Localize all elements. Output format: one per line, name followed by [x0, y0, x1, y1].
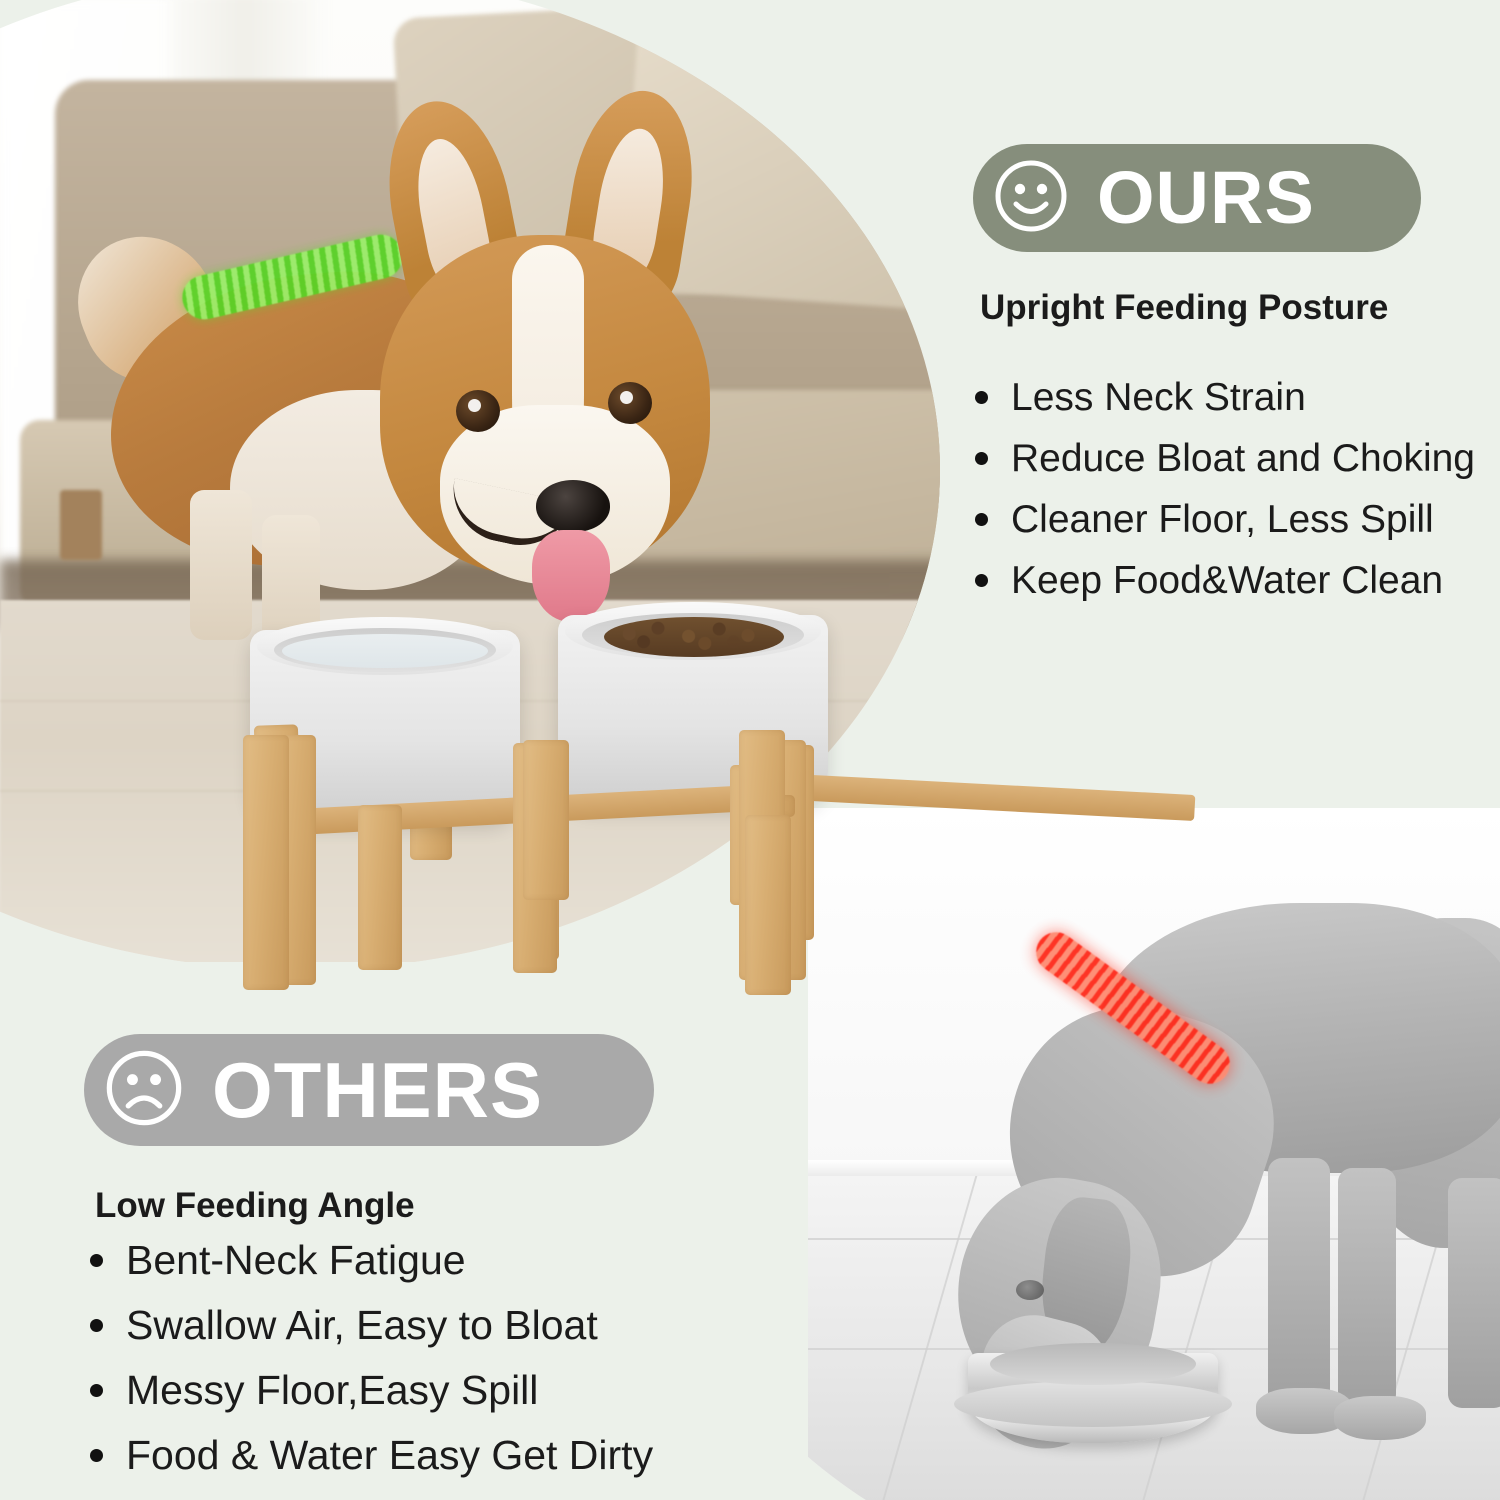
- corgi-eye-right: [608, 382, 652, 424]
- list-item-label: Food & Water Easy Get Dirty: [126, 1435, 653, 1476]
- bullet-dot-icon: [975, 574, 988, 587]
- list-item-label: Cleaner Floor, Less Spill: [1011, 500, 1434, 539]
- ours-badge-label: OURS: [1097, 161, 1315, 235]
- list-item-label: Less Neck Strain: [1011, 378, 1306, 417]
- smiley-face-icon: [991, 156, 1071, 241]
- list-item-label: Messy Floor,Easy Spill: [126, 1370, 538, 1411]
- list-item-label: Swallow Air, Easy to Bloat: [126, 1305, 598, 1346]
- frowning-face-icon: [102, 1046, 186, 1135]
- list-item-label: Reduce Bloat and Choking: [1011, 439, 1475, 478]
- steel-bowl-base-rim: [954, 1381, 1232, 1427]
- bullet-dot-icon: [90, 1319, 103, 1332]
- others-badge-label: OTHERS: [212, 1051, 543, 1129]
- list-item: Food & Water Easy Get Dirty: [90, 1435, 653, 1476]
- ours-benefit-list: Less Neck Strain Reduce Bloat and Chokin…: [975, 378, 1475, 622]
- dog-front-leg: [1338, 1168, 1396, 1408]
- bullet-dot-icon: [975, 391, 988, 404]
- steel-bowl-opening: [990, 1343, 1196, 1385]
- list-item: Keep Food&Water Clean: [975, 561, 1475, 600]
- water-content: [282, 634, 488, 668]
- stand-leg-left-front-lower: [243, 735, 289, 990]
- list-item: Cleaner Floor, Less Spill: [975, 500, 1475, 539]
- corgi-eye-glint: [468, 399, 481, 412]
- dog-front-leg: [1268, 1158, 1330, 1408]
- infographic-canvas: OURS Upright Feeding Posture Less Neck S…: [0, 0, 1500, 1500]
- ours-badge: OURS: [973, 144, 1421, 252]
- ours-subheading: Upright Feeding Posture: [980, 288, 1388, 328]
- others-badge: OTHERS: [84, 1034, 654, 1146]
- list-item: Reduce Bloat and Choking: [975, 439, 1475, 478]
- bullet-dot-icon: [90, 1384, 103, 1397]
- list-item: Swallow Air, Easy to Bloat: [90, 1305, 653, 1346]
- floor-level-steel-bowl: [968, 1353, 1218, 1443]
- bullet-dot-icon: [90, 1449, 103, 1462]
- bullet-dot-icon: [90, 1254, 103, 1267]
- corgi-nose: [536, 480, 610, 532]
- list-item: Messy Floor,Easy Spill: [90, 1370, 653, 1411]
- others-photo: [808, 808, 1500, 1500]
- corgi-eye-left: [456, 390, 500, 432]
- kibble-content: [604, 617, 784, 657]
- dog-eye: [1016, 1280, 1044, 1300]
- bullet-dot-icon: [975, 452, 988, 465]
- dog-paw: [1334, 1396, 1426, 1440]
- bullet-dot-icon: [975, 513, 988, 526]
- corgi-eye-glint: [620, 391, 633, 404]
- stand-leg-center-lower: [523, 740, 569, 900]
- list-item: Bent-Neck Fatigue: [90, 1240, 653, 1281]
- others-drawback-list: Bent-Neck Fatigue Swallow Air, Easy to B…: [90, 1240, 653, 1500]
- list-item-label: Keep Food&Water Clean: [1011, 561, 1443, 600]
- stand-leg-inner-left: [358, 805, 402, 970]
- stand-leg-right-front: [745, 815, 791, 995]
- list-item: Less Neck Strain: [975, 378, 1475, 417]
- dog-hind-leg: [1448, 1178, 1500, 1408]
- list-item-label: Bent-Neck Fatigue: [126, 1240, 466, 1281]
- others-subheading: Low Feeding Angle: [95, 1186, 415, 1226]
